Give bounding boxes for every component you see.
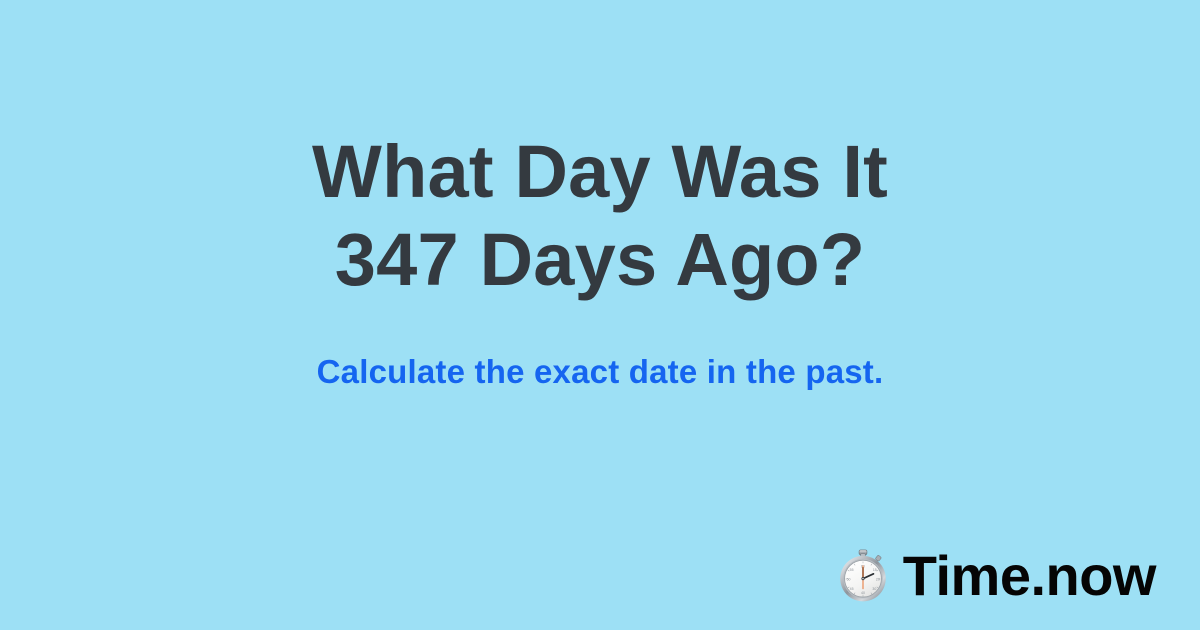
svg-text:55: 55 bbox=[849, 568, 853, 572]
svg-text:30: 30 bbox=[872, 587, 876, 591]
svg-text:20: 20 bbox=[876, 577, 880, 581]
social-preview-card: What Day Was It 347 Days Ago? Calculate … bbox=[0, 0, 1200, 630]
brand-logo: 60 15 20 30 40 45 50 55 Time.now bbox=[835, 548, 1156, 604]
svg-text:50: 50 bbox=[846, 577, 850, 581]
stopwatch-icon: 60 15 20 30 40 45 50 55 bbox=[835, 548, 891, 604]
svg-text:45: 45 bbox=[849, 587, 853, 591]
svg-text:15: 15 bbox=[873, 568, 877, 572]
page-subtitle: Calculate the exact date in the past. bbox=[317, 352, 884, 392]
hero-section: What Day Was It 347 Days Ago? Calculate … bbox=[0, 128, 1200, 392]
page-title: What Day Was It 347 Days Ago? bbox=[312, 128, 888, 304]
page-title-line-2: 347 Days Ago? bbox=[312, 216, 888, 304]
page-title-line-1: What Day Was It bbox=[312, 128, 888, 216]
svg-text:40: 40 bbox=[861, 591, 865, 595]
brand-name: Time.now bbox=[903, 548, 1156, 604]
